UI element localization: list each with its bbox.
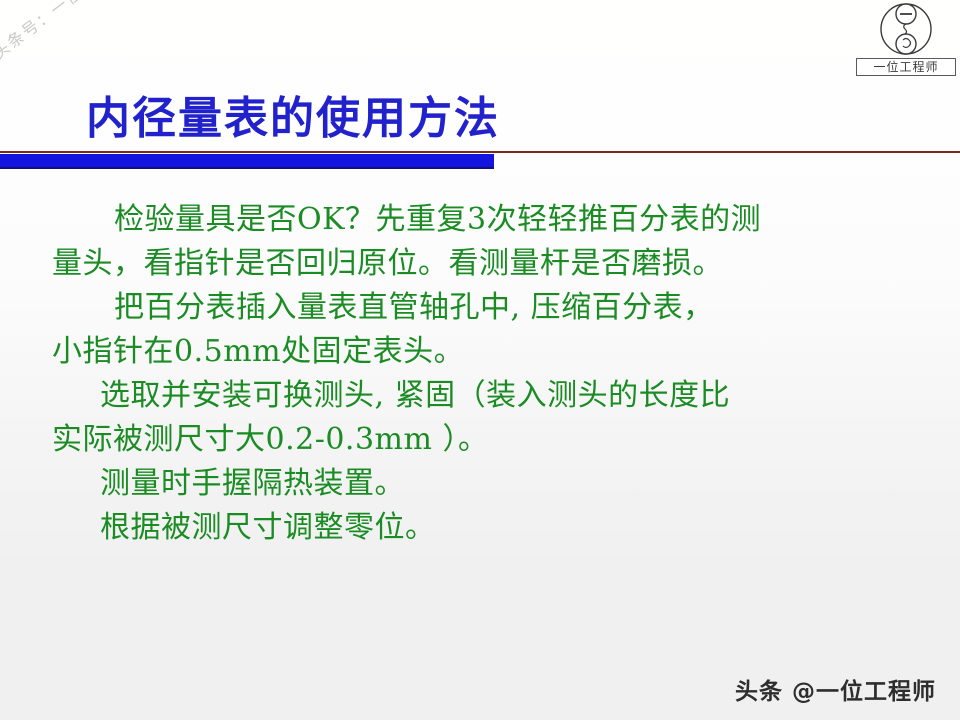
- paragraph: 测量时手握隔热装置。: [52, 462, 924, 506]
- body-line: 量头，看指针是否回归原位。看测量杆是否磨损。: [52, 242, 924, 286]
- footer-attribution: 头条 @一位工程师: [735, 672, 936, 706]
- header-accent-bar: [0, 154, 494, 169]
- body-line: 把百分表插入量表直管轴孔中, 压缩百分表，: [52, 286, 924, 330]
- logo-caption: 一位工程师: [856, 58, 956, 76]
- body-line: 根据被测尺寸调整零位。: [52, 506, 924, 550]
- slide-canvas: 头条号：一位工程师 一位工程师 内径量表的使用方法 检验量具是否OK？先重复3次…: [0, 0, 960, 720]
- brand-logo: 一位工程师: [856, 2, 956, 76]
- page-title: 内径量表的使用方法: [86, 82, 500, 146]
- circular-emblem-icon: [876, 2, 936, 58]
- body-line: 小指针在0.5mm处固定表头。: [52, 330, 924, 374]
- paragraph: 检验量具是否OK？先重复3次轻轻推百分表的测 量头，看指针是否回归原位。看测量杆…: [52, 198, 924, 286]
- diagonal-watermark: 头条号：一位工程师: [0, 0, 185, 64]
- body-line: 检验量具是否OK？先重复3次轻轻推百分表的测: [52, 198, 924, 242]
- body-line: 测量时手握隔热装置。: [52, 462, 924, 506]
- paragraph: 根据被测尺寸调整零位。: [52, 506, 924, 550]
- paragraph: 选取并安装可换测头, 紧固（装入测头的长度比 实际被测尺寸大0.2-0.3mm …: [52, 374, 924, 462]
- header-divider-thin: [0, 151, 960, 153]
- paragraph: 把百分表插入量表直管轴孔中, 压缩百分表， 小指针在0.5mm处固定表头。: [52, 286, 924, 374]
- body-line: 实际被测尺寸大0.2-0.3mm ）。: [52, 418, 924, 462]
- slide-body: 检验量具是否OK？先重复3次轻轻推百分表的测 量头，看指针是否回归原位。看测量杆…: [52, 198, 924, 550]
- body-line: 选取并安装可换测头, 紧固（装入测头的长度比: [52, 374, 924, 418]
